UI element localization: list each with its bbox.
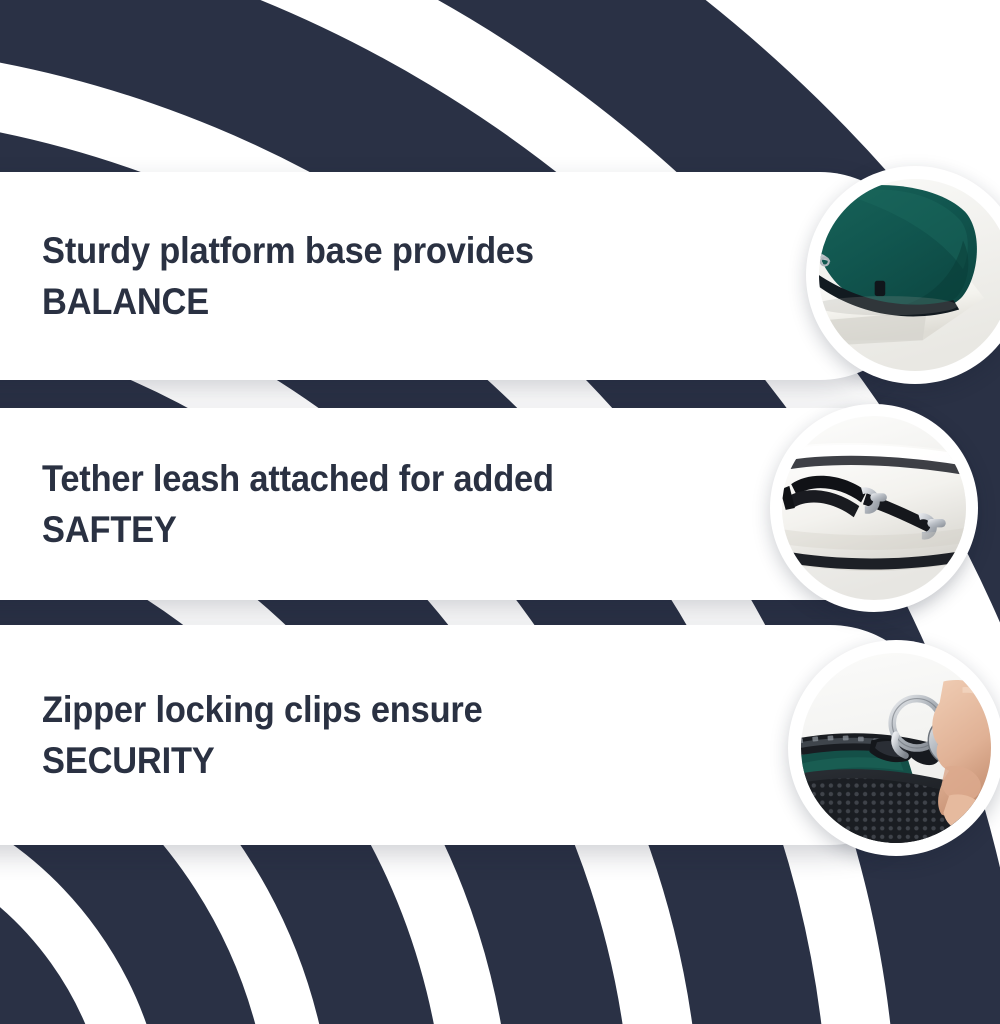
- feature-card-balance-text: Sturdy platform base provides BALANCE: [0, 225, 556, 327]
- black-tether-leash-with-clips-photo: Black tether leash strap with silver met…: [770, 404, 978, 612]
- zipper-lock-illustration: [801, 653, 991, 843]
- zipper-lock-photo-inner: [801, 653, 991, 843]
- feature-infographic-poster: Sturdy platform base provides BALANCE Te…: [0, 0, 1000, 1024]
- tether-leash-illustration: [782, 416, 966, 600]
- green-pouch-illustration: [819, 179, 1000, 371]
- feature-card-saftey-text: Tether leash attached for added SAFTEY: [0, 453, 576, 555]
- tether-leash-photo-inner: [782, 416, 966, 600]
- feature-card-security-line-2: SECURITY: [42, 735, 483, 786]
- feature-card-balance: Sturdy platform base provides BALANCE: [0, 172, 924, 380]
- green-pouch-photo-inner: [819, 179, 1000, 371]
- feature-card-security-text: Zipper locking clips ensure SECURITY: [0, 684, 505, 786]
- feature-card-balance-line-2: BALANCE: [42, 276, 534, 327]
- hand-locking-zipper-clip-photo: A hand holding a zipper pull and locking…: [788, 640, 1000, 856]
- feature-card-balance-line-1: Sturdy platform base provides: [42, 230, 534, 271]
- feature-card-saftey-line-1: Tether leash attached for added: [42, 458, 554, 499]
- feature-card-security-line-1: Zipper locking clips ensure: [42, 689, 483, 730]
- feature-card-saftey-line-2: SAFTEY: [42, 504, 554, 555]
